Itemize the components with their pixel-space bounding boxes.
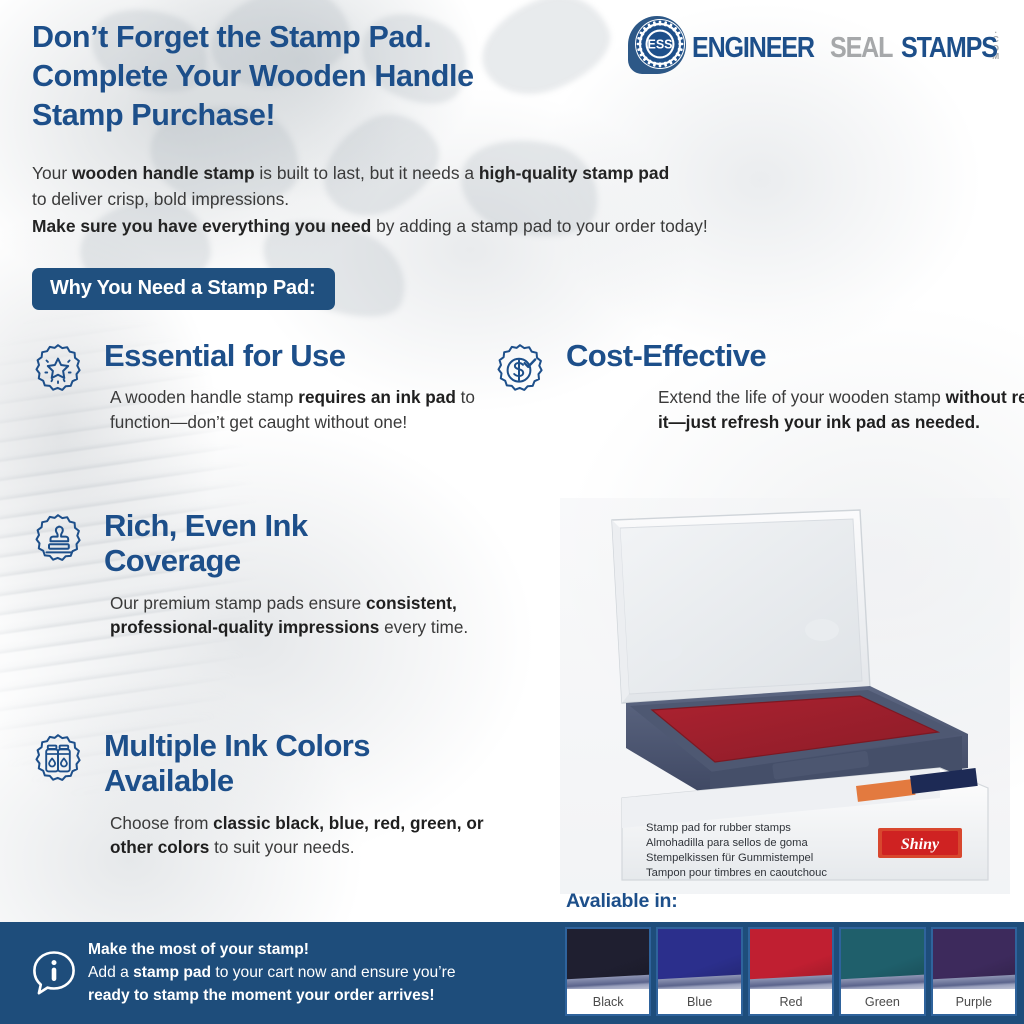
feature-description: Choose from classic black, blue, red, gr… <box>110 811 530 860</box>
badge-dollar-check-icon <box>492 342 548 398</box>
intro-line3-bold: Make sure you have everything you need <box>32 216 371 236</box>
page-title: Don’t Forget the Stamp Pad. Complete You… <box>32 18 652 135</box>
feature-text-pre: A wooden handle stamp <box>110 387 298 407</box>
swatch-green[interactable]: Green <box>839 927 925 1016</box>
intro-line1-bold2: high-quality stamp pad <box>479 163 669 183</box>
swatch-color-purple <box>933 929 1015 989</box>
badge-stamp-icon <box>30 512 86 568</box>
badge-ink-bottles-icon <box>30 732 86 788</box>
feature-cost-effective: Cost-Effective Extend the life of your w… <box>492 338 1012 434</box>
footer-line-2: Add a stamp pad to your cart now and ens… <box>88 962 558 985</box>
feature-description: A wooden handle stamp requires an ink pa… <box>110 385 502 434</box>
swatch-label: Red <box>750 989 832 1014</box>
swatch-label: Black <box>567 989 649 1014</box>
intro-line3-post: by adding a stamp pad to your order toda… <box>371 216 707 236</box>
intro-paragraph: Your wooden handle stamp is built to las… <box>32 160 912 239</box>
why-need-stamp-pad-banner: Why You Need a Stamp Pad: <box>32 268 335 310</box>
swatch-red[interactable]: Red <box>748 927 834 1016</box>
wordmark-seal: SEAL <box>830 35 892 62</box>
brand-logo[interactable]: ESS ENGINEER SEAL STAMPS . C O M <box>628 14 1018 74</box>
brand-wordmark: ENGINEER SEAL STAMPS . C O M <box>692 26 999 62</box>
swatch-color-red <box>750 929 832 989</box>
header: Don’t Forget the Stamp Pad. Complete You… <box>0 0 1024 150</box>
intro-line1-pre: Your <box>32 163 72 183</box>
swatch-label: Blue <box>658 989 740 1014</box>
feature-text-post: to suit your needs. <box>209 837 354 857</box>
swatch-label: Green <box>841 989 923 1014</box>
feature-text-pre: Our premium stamp pads ensure <box>110 593 366 613</box>
available-in-label: Avaliable in: <box>566 890 678 913</box>
feature-rich-even-ink-coverage: Rich, Even Ink Coverage Our premium stam… <box>30 508 500 640</box>
footer-line-1: Make the most of your stamp! <box>88 939 558 962</box>
box-label-line-3: Stempelkissen für Gummistempel <box>646 852 813 864</box>
feature-essential-for-use: Essential for Use A wooden handle stamp … <box>30 338 500 434</box>
feature-title-line-2: Coverage <box>104 543 502 578</box>
wordmark-engineer: ENGINEER <box>692 35 814 62</box>
intro-line1-mid: is built to last, but it needs a <box>255 163 479 183</box>
footer-line3-bold: ready to stamp the moment your order arr… <box>88 987 435 1004</box>
feature-title: Multiple Ink Colors Available <box>104 728 530 799</box>
headline-line-2: Complete Your Wooden Handle <box>32 57 652 96</box>
swatch-blue[interactable]: Blue <box>656 927 742 1016</box>
feature-description: Our premium stamp pads ensure consistent… <box>110 591 502 640</box>
ess-gear-seal-icon: ESS <box>632 16 688 72</box>
intro-line-2: to deliver crisp, bold impressions. <box>32 186 912 212</box>
badge-star-icon <box>30 342 86 398</box>
feature-text-post: every time. <box>379 617 468 637</box>
intro-line1-bold: wooden handle stamp <box>72 163 255 183</box>
box-label-line-2: Almohadilla para sellos de goma <box>646 837 808 849</box>
headline-line-1: Don’t Forget the Stamp Pad. <box>32 18 652 57</box>
feature-description: Extend the life of your wooden stamp wit… <box>658 385 1024 434</box>
feature-title: Cost-Effective <box>566 338 1024 373</box>
info-bubble-icon <box>28 947 80 999</box>
feature-title-line-2: Available <box>104 763 530 798</box>
intro-line-1: Your wooden handle stamp is built to las… <box>32 160 912 186</box>
box-label-line-4: Tampon pour timbres en caoutchouc <box>646 867 827 879</box>
box-label-line-1: Stamp pad for rubber stamps <box>646 822 791 834</box>
feature-title-line-1: Rich, Even Ink <box>104 508 502 543</box>
wordmark-stamps: STAMPS <box>901 35 997 62</box>
footer-line2-pre: Add a <box>88 964 133 981</box>
feature-text-pre: Extend the life of your wooden stamp <box>658 387 946 407</box>
feature-title: Rich, Even Ink Coverage <box>104 508 502 579</box>
headline-line-3: Stamp Purchase! <box>32 96 652 135</box>
feature-title: Essential for Use <box>104 338 502 373</box>
feature-title-line-1: Multiple Ink Colors <box>104 728 530 763</box>
swatch-color-blue <box>658 929 740 989</box>
shiny-brand-badge: Shiny <box>878 828 962 858</box>
footer-line-3: ready to stamp the moment your order arr… <box>88 985 558 1008</box>
swatch-black[interactable]: Black <box>565 927 651 1016</box>
product-photo-stamp-pad: Stamp pad for rubber stamps Almohadilla … <box>560 498 1010 894</box>
intro-line-3: Make sure you have everything you need b… <box>32 213 912 239</box>
footer-line2-post: to your cart now and ensure you’re <box>211 964 455 981</box>
footer-cta-text: Make the most of your stamp! Add a stamp… <box>88 939 558 1008</box>
color-swatch-strip: Black Blue Red Green Purple <box>562 922 1020 1020</box>
swatch-label: Purple <box>933 989 1015 1014</box>
ess-monogram-text: ESS <box>647 38 672 52</box>
swatch-color-black <box>567 929 649 989</box>
feature-text-bold: requires an ink pad <box>298 387 456 407</box>
svg-text:Shiny: Shiny <box>901 836 940 853</box>
swatch-color-green <box>841 929 923 989</box>
feature-multiple-ink-colors: Multiple Ink Colors Available Choose fro… <box>30 728 540 860</box>
footer-line2-bold: stamp pad <box>133 964 211 981</box>
feature-text-pre: Choose from <box>110 813 213 833</box>
swatch-purple[interactable]: Purple <box>931 927 1017 1016</box>
